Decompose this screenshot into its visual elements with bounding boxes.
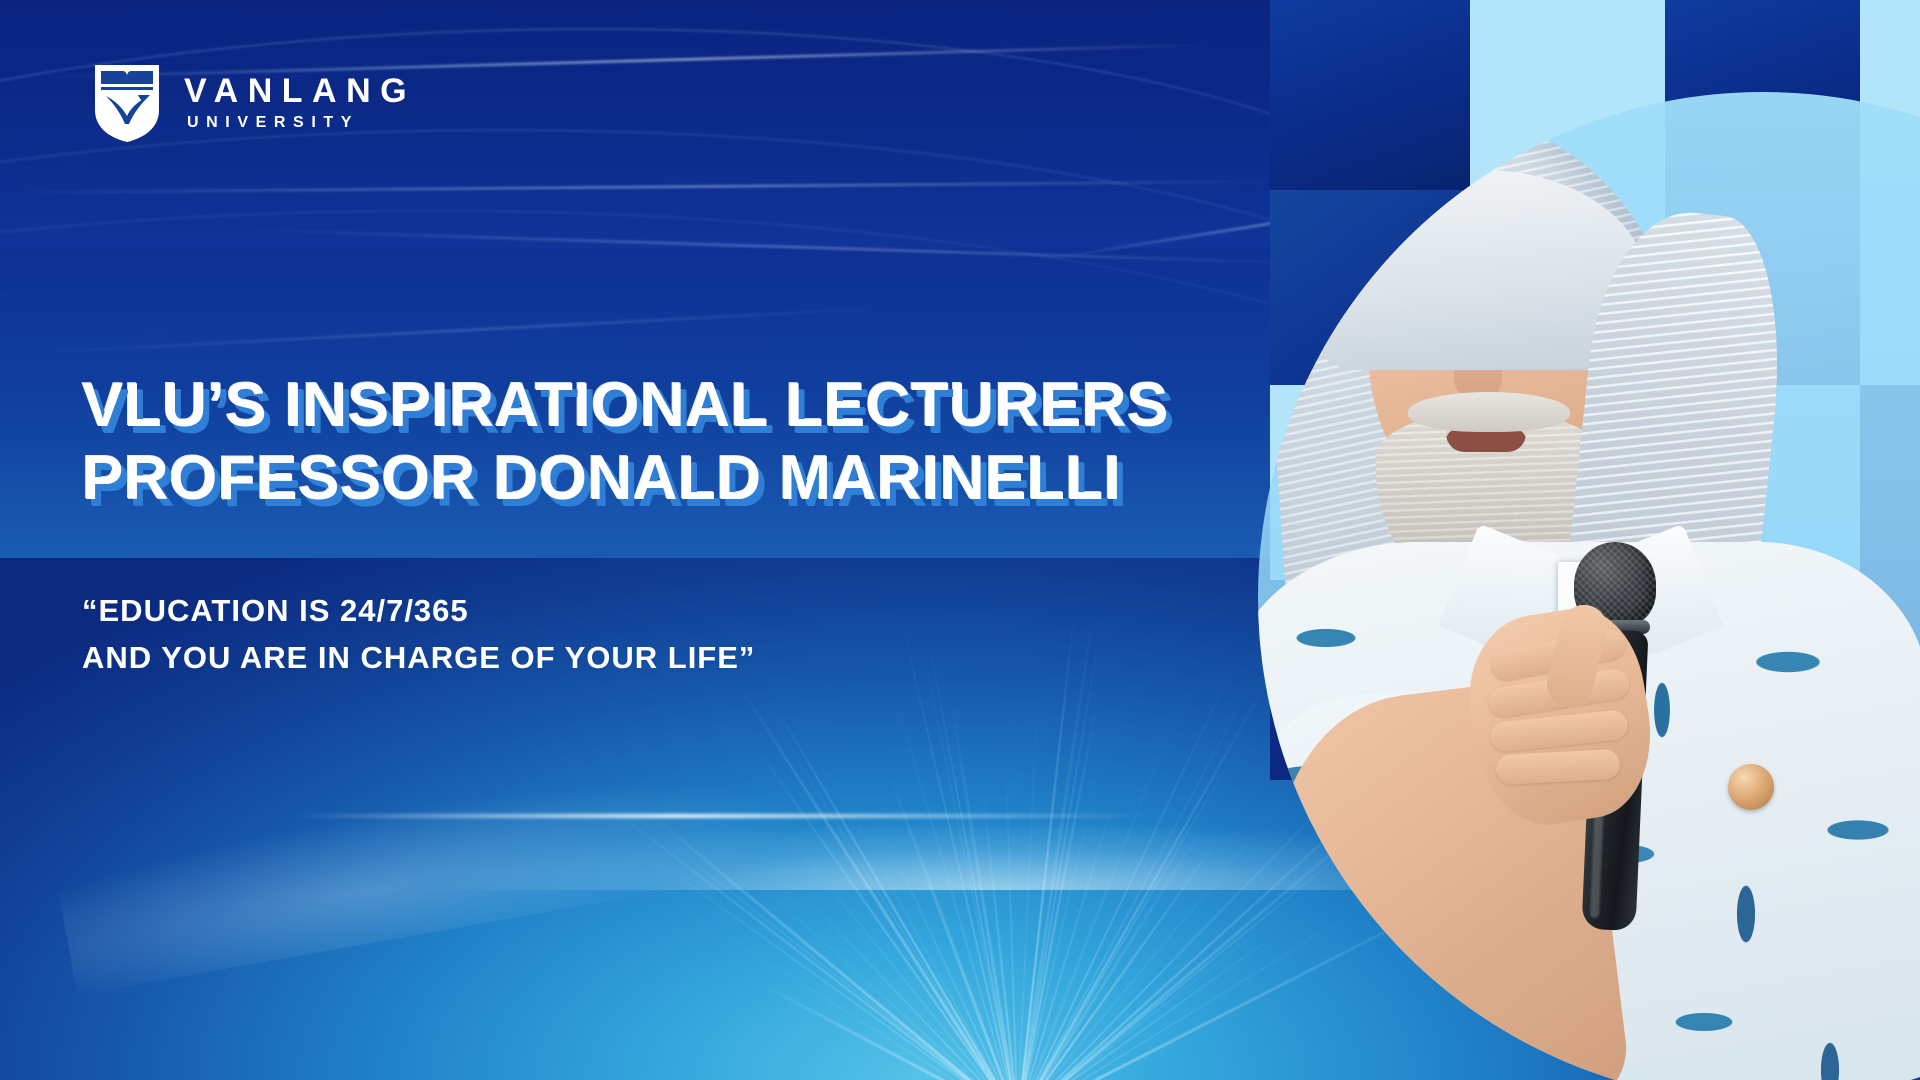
light-ray-20 [949,696,1019,1080]
light-ray-29 [1017,780,1120,1080]
light-ray-17 [901,617,1019,1080]
light-ray-28 [1017,783,1096,1080]
light-ray-21 [981,787,1019,1080]
light-ray-32 [1017,653,1269,1080]
light-ray-6 [715,843,1018,1080]
light-ray-35 [1016,817,1210,1080]
light-ray-33 [1017,678,1270,1080]
light-ray-30 [1016,705,1180,1080]
shield-icon [92,62,162,144]
speaker-photo [1258,92,1920,1080]
light-ray-34 [1017,735,1246,1080]
glow-streak-6 [1,306,900,355]
horizon-line [290,814,1150,818]
light-ray-1 [681,906,1018,1080]
light-ray-2 [629,841,1018,1080]
light-ray-14 [881,826,1018,1080]
light-arc-1 [0,0,1416,399]
light-ray-36 [1017,840,1218,1080]
light-ray-4 [606,792,1018,1080]
headline-line-2: PROFESSOR DONALD MARINELLI [82,443,1242,516]
light-ray-25 [1016,596,1098,1080]
light-ray-0 [752,978,1018,1080]
light-ray-43 [1017,926,1288,1080]
quote-line-1: “EDUCATION IS 24/7/365 [82,588,982,635]
light-ray-31 [1017,661,1236,1080]
light-ray-11 [742,670,1018,1080]
light-ray-37 [1017,785,1297,1080]
vanlang-university-logo[interactable]: VANLANG UNIVERSITY [92,62,416,144]
glow-streak-2 [0,180,1290,193]
light-ray-27 [1017,689,1101,1080]
light-ray-26 [1017,624,1102,1080]
promo-banner: VANLANG UNIVERSITY VLU’S INSPIRATIONAL L… [0,0,1920,1080]
light-ray-10 [736,681,1019,1080]
light-ray-23 [1017,667,1040,1080]
brand-text-block: VANLANG UNIVERSITY [184,74,416,132]
quote-block: “EDUCATION IS 24/7/365 AND YOU ARE IN CH… [82,588,982,681]
lapel-badge [1728,764,1774,810]
light-ray-8 [773,818,1018,1080]
light-ray-7 [803,893,1018,1080]
mustache [1408,392,1570,432]
light-ray-13 [818,751,1018,1080]
glow-streak-3 [240,229,1340,266]
headline-line-1: VLU’S INSPIRATIONAL LECTURERS [82,370,1242,443]
light-ray-3 [602,801,1018,1080]
light-ray-5 [644,808,1019,1080]
speaker-figure [1258,92,1920,1080]
soft-wave-glow [54,735,825,995]
light-ray-16 [889,676,1018,1080]
brand-subtitle: UNIVERSITY [184,114,416,132]
light-ray-12 [768,696,1019,1080]
brand-name: VANLANG [184,74,416,109]
light-ray-22 [1005,754,1018,1080]
light-ray-19 [927,630,1019,1080]
headline-block: VLU’S INSPIRATIONAL LECTURERS PROFESSOR … [82,370,1242,515]
quote-line-2: AND YOU ARE IN CHARGE OF YOUR LIFE” [82,635,982,682]
light-ray-24 [1017,611,1076,1080]
light-ray-9 [747,735,1019,1080]
